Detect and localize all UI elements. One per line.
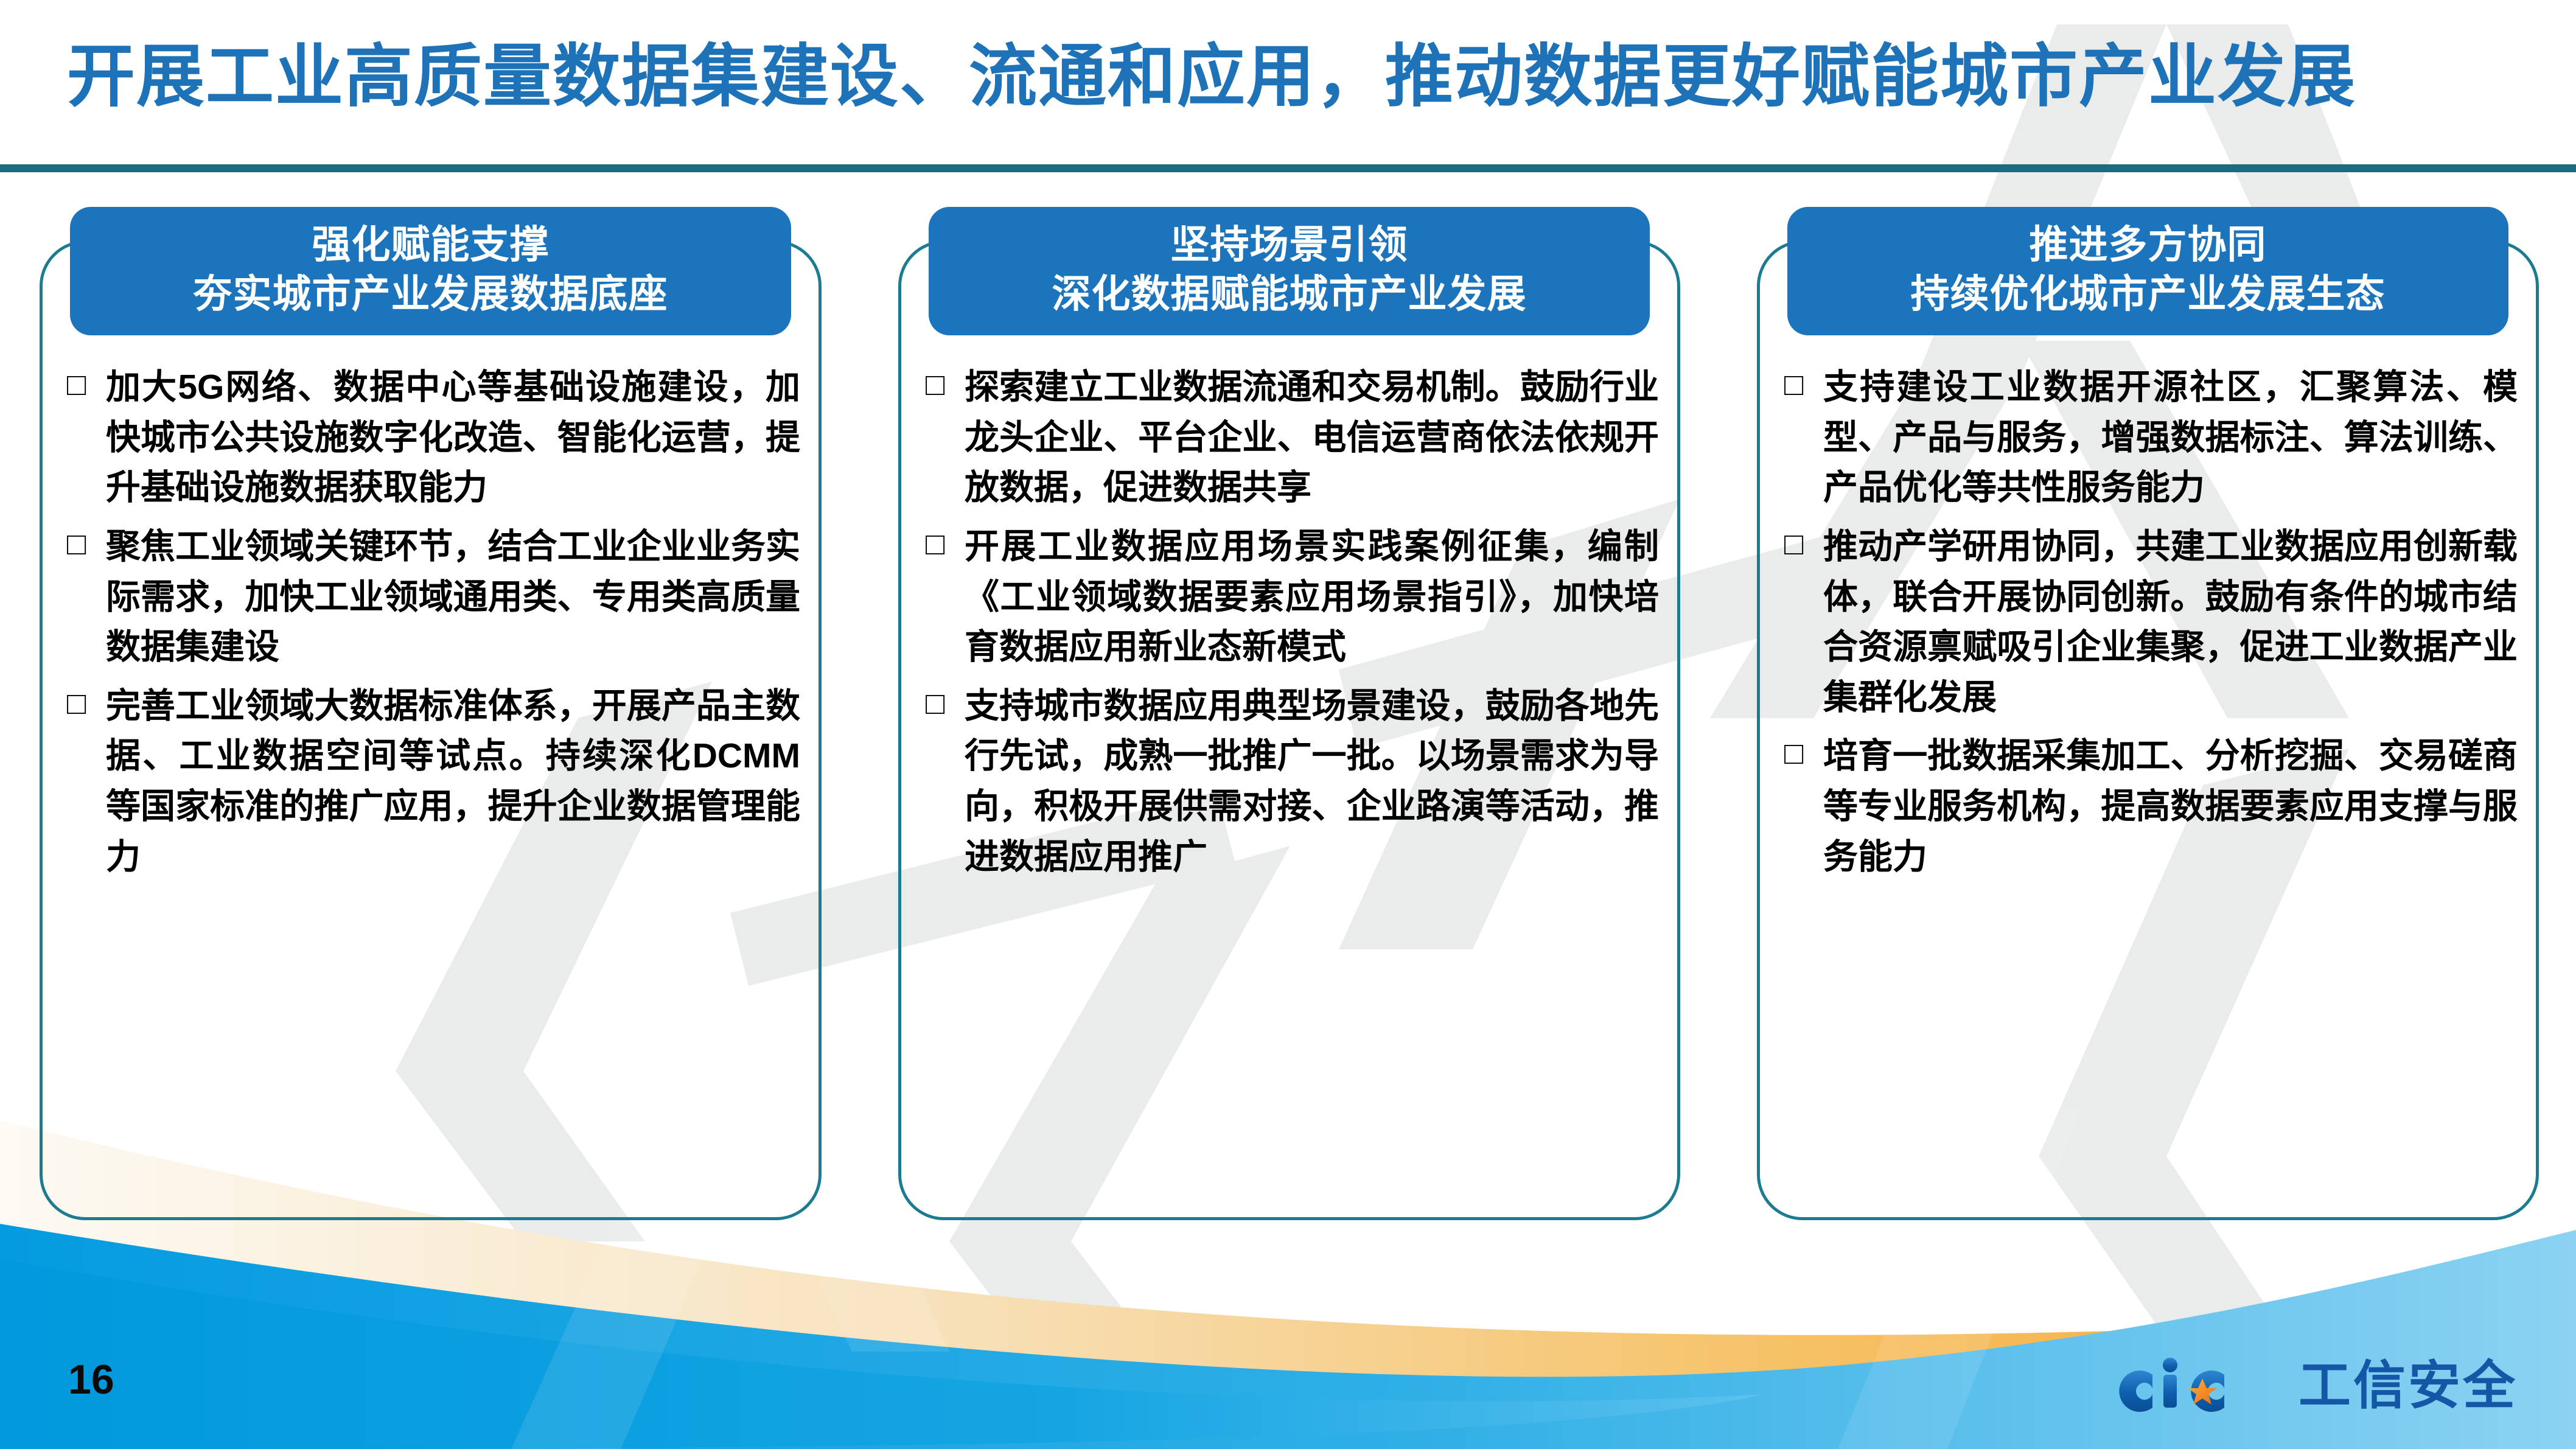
- square-bullet-icon: □: [1784, 731, 1812, 777]
- strategy-card-2: 坚持场景引领 深化数据赋能城市产业发展 □ 探索建立工业数据流通和交易机制。鼓励…: [859, 207, 1717, 1229]
- card-badge-line-1: 坚持场景引领: [944, 220, 1634, 270]
- list-item-text: 推动产学研用协同，共建工业数据应用创新载体，联合开展协同创新。鼓励有条件的城市结…: [1823, 522, 2518, 723]
- list-item: □ 支持建设工业数据开源社区，汇聚算法、模型、产品与服务，增强数据标注、算法训练…: [1784, 362, 2518, 513]
- list-item-text: 探索建立工业数据流通和交易机制。鼓励行业龙头企业、平台企业、电信运营商依法依规开…: [965, 362, 1659, 513]
- list-item: □ 培育一批数据采集加工、分析挖掘、交易磋商等专业服务机构，提高数据要素应用支撑…: [1784, 731, 2518, 882]
- square-bullet-icon: □: [1784, 522, 1812, 567]
- list-item: □ 开展工业数据应用场景实践案例征集，编制《工业领域数据要素应用场景指引》，加快…: [926, 522, 1659, 672]
- page-number: 16: [68, 1356, 114, 1403]
- cards-row: 强化赋能支撑 夯实城市产业发展数据底座 □ 加大5G网络、数据中心等基础设施建设…: [0, 207, 2576, 1229]
- card-badge-line-2: 持续优化城市产业发展生态: [1803, 270, 2493, 319]
- square-bullet-icon: □: [926, 522, 954, 567]
- list-item-text: 完善工业领域大数据标准体系，开展产品主数据、工业数据空间等试点。持续深化DCMM…: [106, 681, 800, 882]
- card-bullet-list: □ 加大5G网络、数据中心等基础设施建设，加快城市公共设施数字化改造、智能化运营…: [67, 362, 800, 890]
- card-badge-line-1: 强化赋能支撑: [86, 220, 775, 270]
- list-item-text: 支持建设工业数据开源社区，汇聚算法、模型、产品与服务，增强数据标注、算法训练、产…: [1823, 362, 2518, 513]
- card-header-badge: 坚持场景引领 深化数据赋能城市产业发展: [929, 207, 1650, 335]
- list-item: □ 推动产学研用协同，共建工业数据应用创新载体，联合开展协同创新。鼓励有条件的城…: [1784, 522, 2518, 723]
- square-bullet-icon: □: [67, 681, 95, 727]
- cic-logo-icon: [2105, 1352, 2288, 1420]
- list-item: □ 探索建立工业数据流通和交易机制。鼓励行业龙头企业、平台企业、电信运营商依法依…: [926, 362, 1659, 513]
- card-badge-line-1: 推进多方协同: [1803, 220, 2493, 270]
- list-item-text: 加大5G网络、数据中心等基础设施建设，加快城市公共设施数字化改造、智能化运营，提…: [106, 362, 800, 513]
- list-item-text: 培育一批数据采集加工、分析挖掘、交易磋商等专业服务机构，提高数据要素应用支撑与服…: [1823, 731, 2518, 882]
- list-item-text: 开展工业数据应用场景实践案例征集，编制《工业领域数据要素应用场景指引》，加快培育…: [965, 522, 1659, 672]
- card-badge-line-2: 深化数据赋能城市产业发展: [944, 270, 1634, 319]
- brand-name: 工信安全: [2299, 1360, 2518, 1412]
- card-bullet-list: □ 支持建设工业数据开源社区，汇聚算法、模型、产品与服务，增强数据标注、算法训练…: [1784, 362, 2518, 890]
- list-item-text: 支持城市数据应用典型场景建设，鼓励各地先行先试，成熟一批推广一批。以场景需求为导…: [965, 681, 1659, 882]
- square-bullet-icon: □: [926, 681, 954, 727]
- card-header-badge: 推进多方协同 持续优化城市产业发展生态: [1787, 207, 2508, 335]
- brand-logo: 工信安全: [2105, 1350, 2518, 1422]
- title-divider-rule: [0, 164, 2576, 172]
- list-item-text: 聚焦工业领域关键环节，结合工业企业业务实际需求，加快工业领域通用类、专用类高质量…: [106, 522, 800, 672]
- list-item: □ 完善工业领域大数据标准体系，开展产品主数据、工业数据空间等试点。持续深化DC…: [67, 681, 800, 882]
- list-item: □ 聚焦工业领域关键环节，结合工业企业业务实际需求，加快工业领域通用类、专用类高…: [67, 522, 800, 672]
- title-block: 开展工业高质量数据集建设、流通和应用，推动数据更好赋能城市产业发展: [0, 37, 2576, 117]
- square-bullet-icon: □: [67, 362, 95, 408]
- card-bullet-list: □ 探索建立工业数据流通和交易机制。鼓励行业龙头企业、平台企业、电信运营商依法依…: [926, 362, 1659, 890]
- square-bullet-icon: □: [926, 362, 954, 408]
- card-badge-line-2: 夯实城市产业发展数据底座: [86, 270, 775, 319]
- square-bullet-icon: □: [1784, 362, 1812, 408]
- strategy-card-3: 推进多方协同 持续优化城市产业发展生态 □ 支持建设工业数据开源社区，汇聚算法、…: [1717, 207, 2576, 1229]
- list-item: □ 加大5G网络、数据中心等基础设施建设，加快城市公共设施数字化改造、智能化运营…: [67, 362, 800, 513]
- list-item: □ 支持城市数据应用典型场景建设，鼓励各地先行先试，成熟一批推广一批。以场景需求…: [926, 681, 1659, 882]
- page-title: 开展工业高质量数据集建设、流通和应用，推动数据更好赋能城市产业发展: [0, 37, 2576, 117]
- square-bullet-icon: □: [67, 522, 95, 567]
- strategy-card-1: 强化赋能支撑 夯实城市产业发展数据底座 □ 加大5G网络、数据中心等基础设施建设…: [0, 207, 859, 1229]
- card-header-badge: 强化赋能支撑 夯实城市产业发展数据底座: [70, 207, 791, 335]
